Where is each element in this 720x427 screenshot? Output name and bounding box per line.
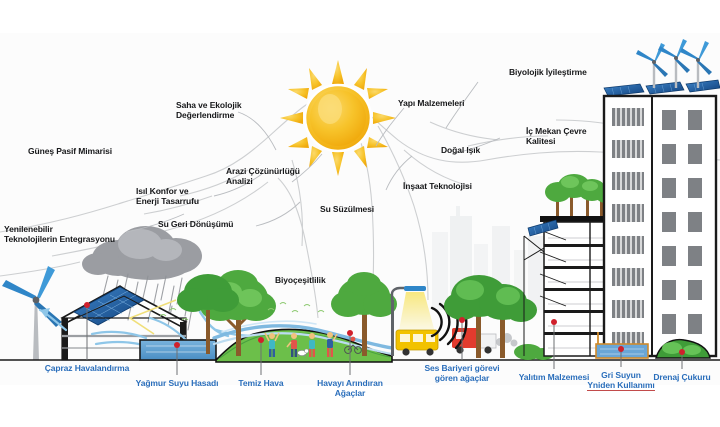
label-saha-ve-ekolojik: Saha ve Ekolojik Değerlendirme xyxy=(176,100,280,120)
label-su-suzulmesi: Su Süzülmesi xyxy=(320,204,404,214)
wind-turbine-icon xyxy=(2,266,62,360)
label-havayi-arindiran: Havayı Arındıran Ağaçlar xyxy=(301,378,399,398)
label-arazi-cozunurlugu: Arazi Çözünürlüğü Analizi xyxy=(226,166,330,186)
roof-wind-turbines xyxy=(636,39,712,88)
label-insaat-teknolojisi: İnşaat Teknolojisi xyxy=(403,181,501,191)
label-temiz-hava: Temiz Hava xyxy=(223,378,299,388)
infographic-canvas: Güneş Pasif MimarisiYenilenebilir Teknol… xyxy=(0,0,720,427)
label-gunes-pasif-mimarisi: Güneş Pasif Mimarisi xyxy=(28,146,148,156)
label-gri-suyun-yeniden-line1: Gri Suyun xyxy=(601,370,641,380)
label-biyocesitlilik: Biyoçeşitlilik xyxy=(275,275,349,285)
label-yenilenebilir-teknolojiler: Yenilenebilir Teknolojilerin Entegrasyon… xyxy=(4,224,124,244)
tower-building xyxy=(604,39,720,356)
label-dogal-isik: Doğal Işık xyxy=(441,145,511,155)
label-yapi-malzemeleri: Yapı Malzemeleri xyxy=(398,98,498,108)
label-isil-konfor: Isıl Konfor ve Enerji Tasarrufu xyxy=(136,186,236,206)
label-drenaj-cukuru: Drenaj Çukuru xyxy=(639,372,720,382)
label-biyolojik-iyilestirme: Biyolojik İyileştirme xyxy=(509,67,621,77)
city-bus-icon xyxy=(396,330,438,356)
label-capraz-havalandirma: Çapraz Havalandırma xyxy=(32,363,142,373)
label-su-geri-donusumu: Su Geri Dönüşümü xyxy=(158,219,262,229)
roof-solar-panels xyxy=(604,80,720,96)
label-yagmur-suyu-hasadi: Yağmur Suyu Hasadı xyxy=(127,378,227,388)
label-ses-bariyeri: Ses Bariyeri görevi gören ağaçlar xyxy=(409,363,515,383)
sun-icon xyxy=(280,60,396,176)
label-ic-mekan-cevre-kalitesi: İç Mekan Çevre Kalitesi xyxy=(526,126,622,146)
